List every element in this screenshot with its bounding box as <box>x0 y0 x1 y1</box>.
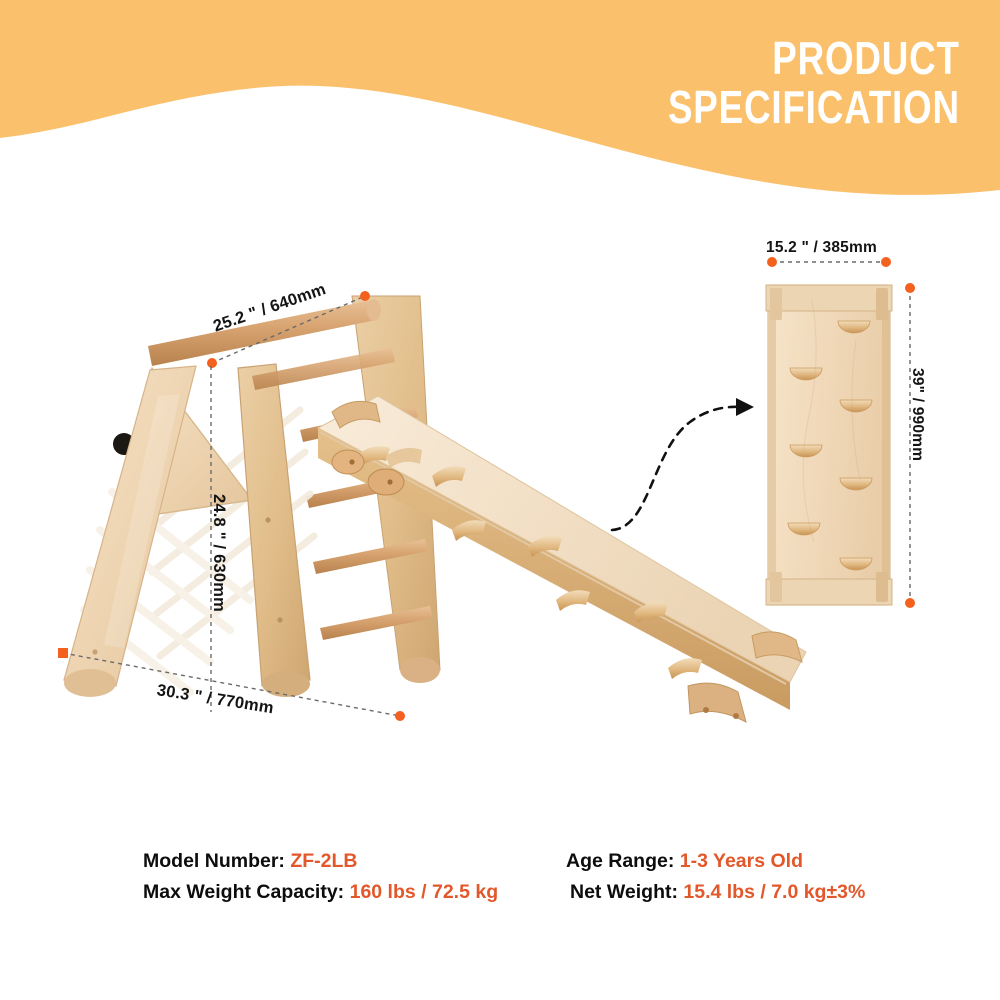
dimension-label-board-height: 39" / 990mm <box>908 368 926 461</box>
dim-marker <box>767 257 777 267</box>
dim-marker <box>395 711 405 721</box>
triangle-climber-artwork <box>64 296 806 722</box>
spec-value-net-weight: 15.4 lbs / 7.0 kg±3% <box>683 881 865 903</box>
dimension-label-board-width: 15.2 " / 385mm <box>766 239 877 257</box>
spec-label-model-number: Model Number: <box>143 850 285 872</box>
spec-value-model-number: ZF-2LB <box>290 850 357 872</box>
specs-column-right: Age Range: 1-3 Years Old Net Weight: 15.… <box>566 846 865 908</box>
spec-value-age-range: 1-3 Years Old <box>680 850 803 872</box>
page-title-line1: PRODUCT <box>772 32 960 84</box>
dim-marker <box>881 257 891 267</box>
dim-marker <box>905 598 915 608</box>
specs-column-left: Model Number: ZF-2LB Max Weight Capacity… <box>143 846 498 908</box>
product-illustration <box>0 200 1000 820</box>
header-banner: PRODUCT SPECIFICATION <box>0 0 1000 210</box>
dim-marker <box>905 283 915 293</box>
spec-label-age-range: Age Range: <box>566 850 674 872</box>
spec-row-age-range: Age Range: 1-3 Years Old <box>566 846 865 877</box>
spec-label-max-weight-capacity: Max Weight Capacity: <box>143 881 344 903</box>
dim-marker <box>207 358 217 368</box>
product-specification-page: PRODUCT SPECIFICATION <box>0 0 1000 1000</box>
dimension-label-vertical: 24.8 " / 630mm <box>209 494 228 612</box>
spec-value-max-weight-capacity: 160 lbs / 72.5 kg <box>350 881 499 903</box>
dim-marker <box>360 291 370 301</box>
spec-row-max-weight-capacity: Max Weight Capacity: 160 lbs / 72.5 kg <box>143 877 498 908</box>
dim-marker <box>58 648 68 658</box>
callout-arrow <box>612 398 754 530</box>
specifications-block: Model Number: ZF-2LB Max Weight Capacity… <box>0 846 1000 926</box>
ramp-board-flat-view <box>766 285 892 605</box>
page-title-line2: SPECIFICATION <box>668 83 960 132</box>
spec-row-model-number: Model Number: ZF-2LB <box>143 846 498 877</box>
spec-label-net-weight: Net Weight: <box>570 881 678 903</box>
spec-row-net-weight: Net Weight: 15.4 lbs / 7.0 kg±3% <box>566 877 865 908</box>
page-title: PRODUCT SPECIFICATION <box>668 34 960 132</box>
